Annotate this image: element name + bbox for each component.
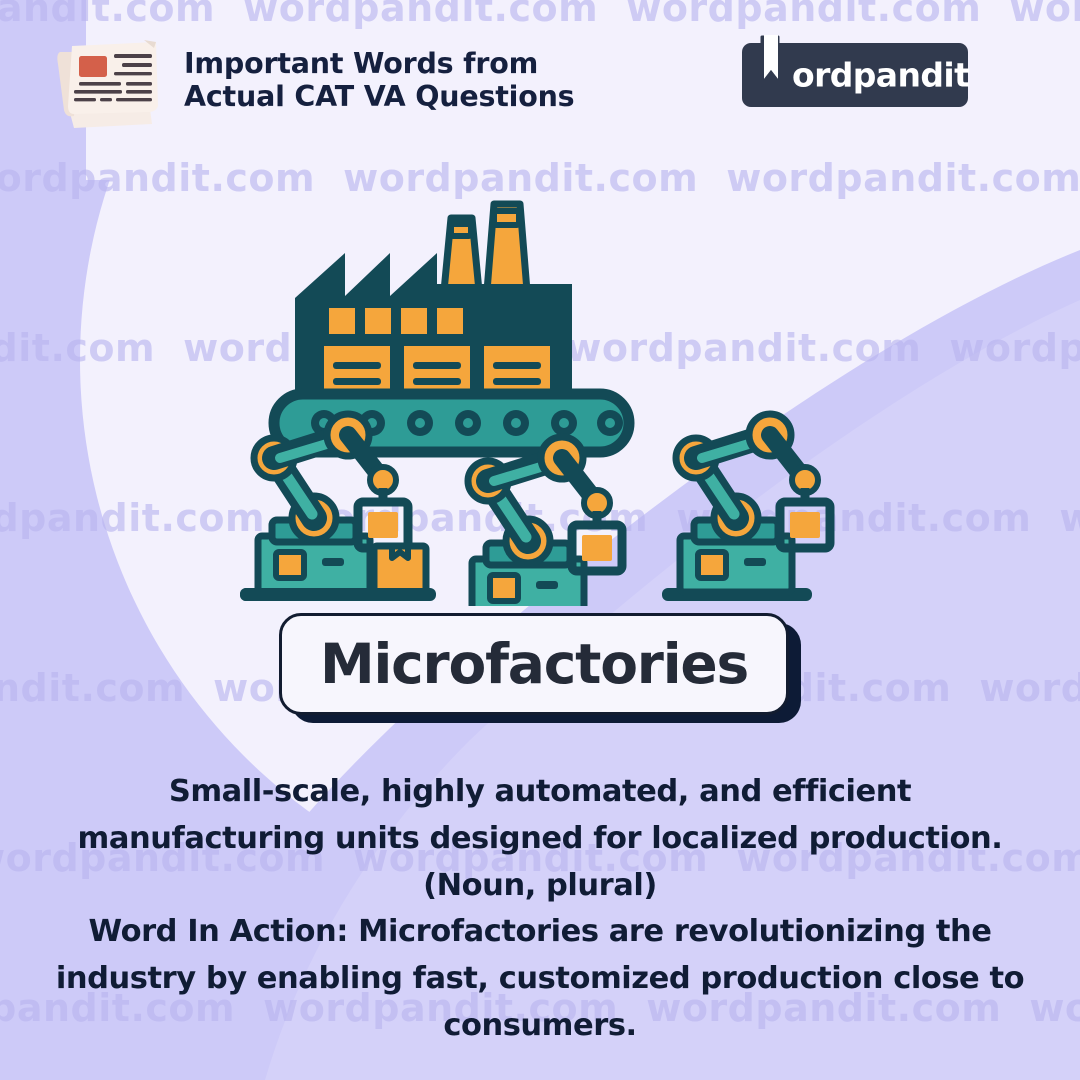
definition-text: Small-scale, highly automated, and effic…: [40, 768, 1040, 862]
usage-line1: Word In Action: Microfactories are revol…: [30, 908, 1050, 955]
header: Important Words from Actual CAT VA Quest…: [0, 0, 1080, 140]
definition-block: Small-scale, highly automated, and effic…: [40, 768, 1040, 909]
usage-line3: consumers.: [30, 1002, 1050, 1049]
page-title-line1: Important Words from: [184, 47, 574, 80]
word-term-card: Microfactories: [279, 613, 801, 723]
logo-text: ordpandit: [792, 56, 969, 95]
word-in-action-block: Word In Action: Microfactories are revol…: [30, 908, 1050, 1049]
factory-window-top-2: [365, 308, 391, 334]
part-of-speech: (Noun, plural): [40, 862, 1040, 909]
word-term: Microfactories: [320, 637, 748, 692]
factory-window-top-4: [437, 308, 463, 334]
word-card-surface: Microfactories: [279, 613, 789, 715]
microfactory-illustration: [232, 196, 852, 606]
factory-window-top-1: [329, 308, 355, 334]
cardboard-box: [374, 546, 426, 592]
page-title-line2: Actual CAT VA Questions: [184, 80, 574, 113]
smokestack-right: [487, 204, 527, 291]
bookmark-w-icon: [760, 35, 796, 93]
robot-arm-center: [454, 437, 622, 606]
definition-line2: manufacturing units designed for localiz…: [40, 815, 1040, 862]
smokestack-left: [444, 218, 479, 291]
robot-arm-right: [662, 414, 830, 601]
wordpandit-logo[interactable]: ordpandit: [742, 43, 968, 107]
usage-line2: industry by enabling fast, customized pr…: [30, 955, 1050, 1002]
page-title: Important Words from Actual CAT VA Quest…: [184, 47, 574, 113]
factory-building: [295, 204, 572, 398]
newspaper-icon: [52, 32, 164, 132]
definition-line1: Small-scale, highly automated, and effic…: [40, 768, 1040, 815]
newspaper-icon-svg: [52, 32, 164, 132]
word-card-graphic: wordpandit.comwordpandit.comwordpandit.c…: [0, 0, 1080, 1080]
factory-window-top-3: [401, 308, 427, 334]
microfactory-illustration-svg: [232, 196, 852, 606]
